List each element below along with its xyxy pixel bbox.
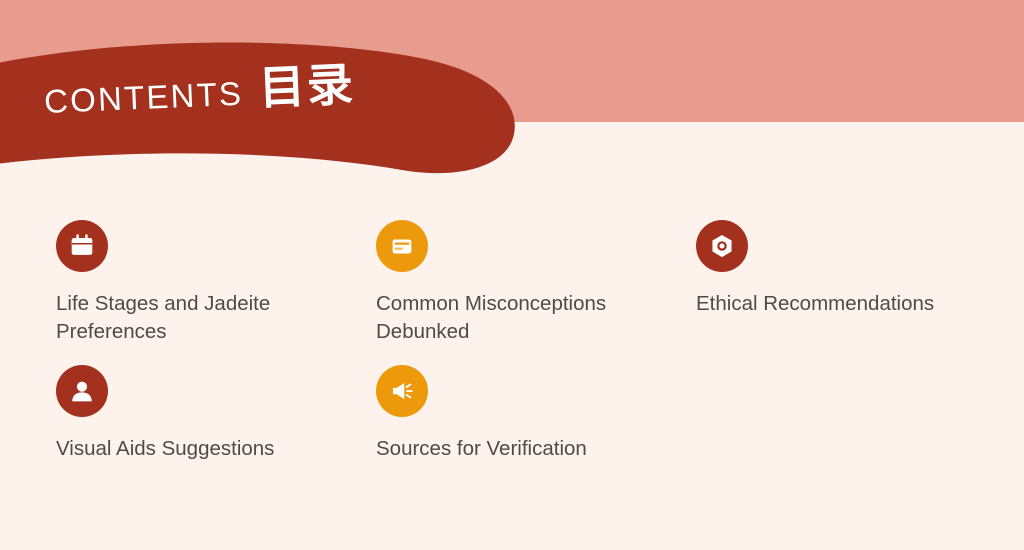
title-chinese: 目录 (258, 61, 356, 111)
contents-item-3[interactable]: Ethical Recommendations (696, 220, 986, 365)
calendar-icon (56, 220, 108, 272)
contents-item-label: Common Misconceptions Debunked (376, 290, 648, 347)
hex-nut-icon-glyph (707, 231, 737, 261)
speaker-icon-glyph (387, 376, 417, 406)
header-banner: CONTENTS 目录 (0, 0, 560, 200)
speaker-icon (376, 365, 428, 417)
contents-item-label: Life Stages and Jadeite Preferences (56, 290, 328, 347)
contents-item-4[interactable]: Visual Aids Suggestions (56, 365, 376, 510)
user-icon-glyph (67, 376, 97, 406)
contents-item-label: Ethical Recommendations (696, 290, 968, 318)
contents-item-1[interactable]: Life Stages and Jadeite Preferences (56, 220, 376, 365)
contents-slide: CONTENTS 目录 Life Stages and Jadeite Pref… (0, 0, 1024, 550)
user-icon (56, 365, 108, 417)
title-english: CONTENTS (43, 77, 243, 118)
contents-item-5[interactable]: Sources for Verification (376, 365, 696, 510)
calendar-icon-glyph (67, 231, 97, 261)
message-card-icon (376, 220, 428, 272)
contents-grid: Life Stages and Jadeite Preferences Comm… (56, 220, 986, 510)
contents-item-label: Sources for Verification (376, 435, 648, 463)
message-card-icon-glyph (387, 231, 417, 261)
hex-nut-icon (696, 220, 748, 272)
contents-item-2[interactable]: Common Misconceptions Debunked (376, 220, 696, 365)
contents-item-label: Visual Aids Suggestions (56, 435, 328, 463)
